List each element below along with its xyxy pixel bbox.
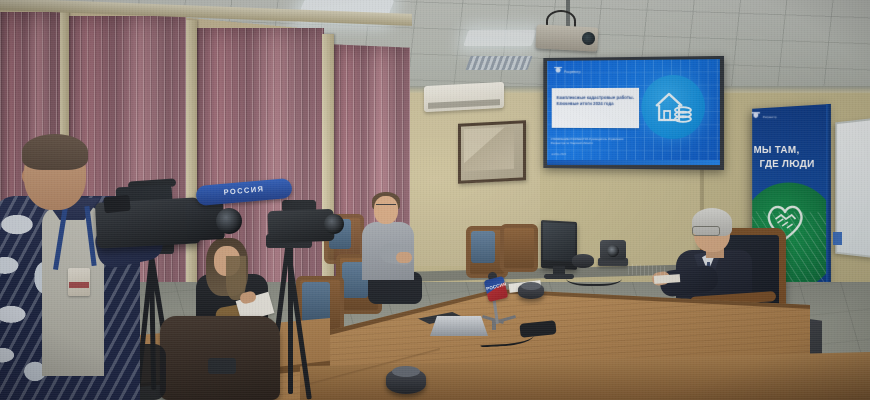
slide-organization-logo: Росреестр xyxy=(554,66,588,77)
attendee-hands xyxy=(396,252,412,263)
slide-footer-date: ноябрь 2024 xyxy=(551,153,591,156)
glasses-icon xyxy=(376,204,396,210)
camera-lens-icon xyxy=(216,208,242,234)
slide-title: Комплексные кадастровые работы. Ключевые… xyxy=(557,95,634,123)
projector-lens-icon xyxy=(582,32,595,45)
press-conference-photo: Росреестр Комплексные кадастровые работы… xyxy=(0,0,870,400)
speaker-puck-far xyxy=(572,254,594,268)
banner-organization-logo: Росреестр xyxy=(752,110,801,124)
banner-logo-text: Росреестр xyxy=(763,115,777,119)
glasses-icon xyxy=(692,226,720,236)
mini-tripod xyxy=(208,358,236,374)
camera-lens-icon xyxy=(607,245,619,257)
camera-lens-icon xyxy=(324,214,344,234)
banner-pole xyxy=(826,104,831,300)
monitor-screen xyxy=(543,222,575,262)
press-badge-stripe xyxy=(69,282,89,288)
slide-logo-text: Росреестр xyxy=(564,69,580,73)
banner-headline-line1: МЫ ТАМ, xyxy=(754,144,826,156)
chair-cushion xyxy=(302,282,330,322)
chair xyxy=(500,224,538,272)
camera-viewfinder xyxy=(103,195,131,214)
framed-picture-art xyxy=(464,127,514,172)
whiteboard-magnet xyxy=(833,232,842,245)
rosreestr-crest-icon xyxy=(752,112,760,122)
banner-headline-line2: ГДЕ ЛЮДИ xyxy=(760,158,830,170)
rosreestr-crest-icon xyxy=(554,67,562,76)
cameraman-hair xyxy=(22,134,88,170)
ceiling-vent xyxy=(465,56,532,70)
house-with-coins-icon xyxy=(652,88,694,126)
speaker-puck-top xyxy=(521,282,541,290)
cable xyxy=(566,268,622,286)
slide-footer-speaker: УПРАВЛЕНИЕ РОСРЕЕСТРА Руководитель Управ… xyxy=(551,138,636,151)
speaker-puck-top xyxy=(392,366,420,377)
chair-cushion xyxy=(471,231,495,263)
tripod-leg xyxy=(288,244,293,394)
slide-bottom-bar xyxy=(547,160,720,165)
attendee-head xyxy=(374,196,398,224)
ceiling-light-panel-secondary xyxy=(463,30,536,46)
window-mullion xyxy=(186,20,197,312)
